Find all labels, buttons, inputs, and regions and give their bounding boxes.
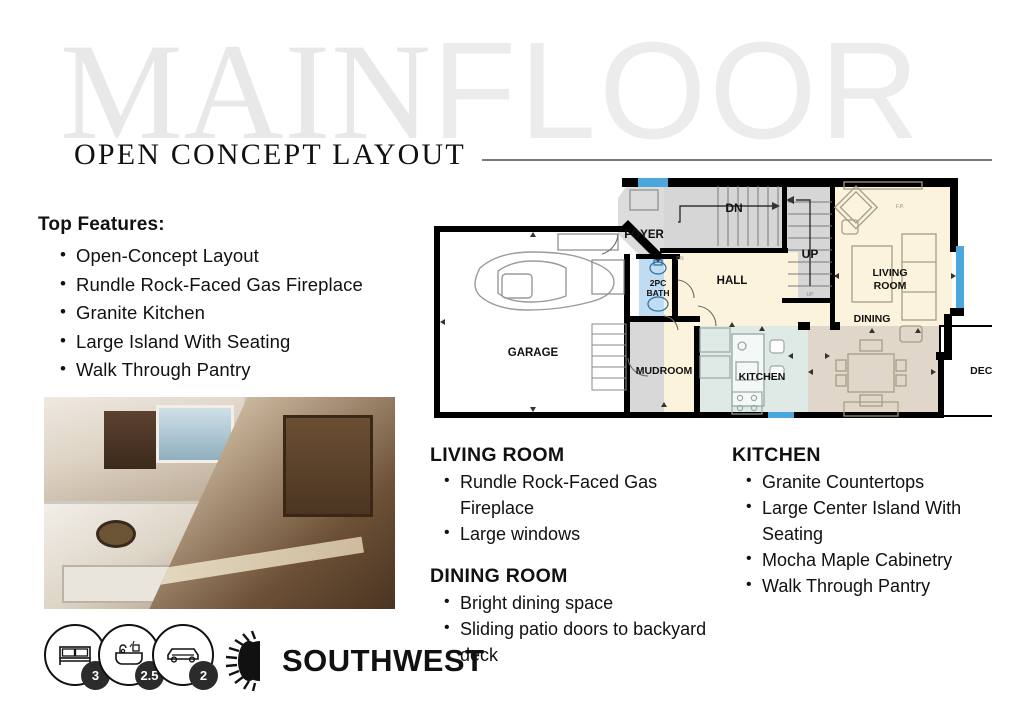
- living-room-label-line2: ROOM: [874, 280, 907, 292]
- dining-label: DINING: [854, 313, 891, 325]
- badge-bathrooms: 2.5: [98, 624, 160, 686]
- list-item: Granite Countertops: [746, 469, 1018, 495]
- kitchen-heading: KITCHEN: [732, 444, 1018, 467]
- list-item: Rundle Rock-Faced Gas Fireplace: [444, 469, 716, 521]
- kitchen-list: Granite Countertops Large Center Island …: [732, 469, 1018, 599]
- top-features-heading: Top Features:: [38, 214, 438, 236]
- list-item: Walk Through Pantry: [60, 356, 438, 385]
- deck-label: DECK: [970, 365, 992, 377]
- page-title-row: OPEN CONCEPT LAYOUT: [74, 138, 992, 172]
- fireplace-tag: F.P.: [896, 204, 904, 210]
- list-item: Large windows: [444, 521, 716, 547]
- stairs-down-tag: DN: [676, 256, 684, 262]
- stairs-up-tag: UP: [807, 292, 815, 298]
- property-badges: 3 2.5 2: [44, 624, 206, 686]
- foyer-label: FOYER: [624, 229, 664, 241]
- living-room-list: Rundle Rock-Faced Gas Fireplace Large wi…: [430, 469, 716, 547]
- garage-area: [438, 230, 628, 416]
- badge-garage-value: 2: [189, 661, 218, 690]
- top-features-block: Top Features: Open-Concept Layout Rundle…: [38, 214, 438, 385]
- floor-plan-drawing: GARAGE FOYER 2PC BATH DN UP HALL LIVING …: [432, 176, 992, 424]
- list-item: Sliding patio doors to backyard deck: [444, 616, 716, 668]
- room-column-right: KITCHEN Granite Countertops Large Center…: [732, 444, 1018, 617]
- photo-collage: [44, 397, 395, 609]
- kitchen-island: [732, 334, 764, 406]
- garage-label: GARAGE: [508, 347, 559, 359]
- half-sun-icon: [218, 630, 280, 692]
- stairs-up-label: UP: [802, 247, 819, 261]
- dining-room-list: Bright dining space Sliding patio doors …: [430, 590, 716, 668]
- window-foyer: [638, 178, 668, 187]
- list-item: Large Center Island With Seating: [746, 495, 1018, 547]
- title-divider: [482, 159, 992, 161]
- living-room-heading: LIVING ROOM: [430, 444, 716, 467]
- window-kitchen: [768, 412, 794, 418]
- page-title: OPEN CONCEPT LAYOUT: [74, 138, 466, 172]
- bath-label-line2: BATH: [647, 288, 670, 298]
- top-features-list: Open-Concept Layout Rundle Rock-Faced Ga…: [38, 242, 438, 385]
- list-item: Bright dining space: [444, 590, 716, 616]
- stairs-down-label: DN: [725, 201, 742, 215]
- mudroom-label: MUDROOM: [636, 365, 693, 377]
- list-item: Open-Concept Layout: [60, 242, 438, 271]
- list-item: Granite Kitchen: [60, 299, 438, 328]
- list-item: Mocha Maple Cabinetry: [746, 547, 1018, 573]
- window-living-room: [956, 246, 964, 308]
- living-room-label-line1: LIVING: [872, 267, 907, 279]
- hall-label: HALL: [717, 275, 748, 287]
- list-item: Rundle Rock-Faced Gas Fireplace: [60, 271, 438, 300]
- badge-garage: 2: [152, 624, 214, 686]
- dining-room-heading: DINING ROOM: [430, 565, 716, 588]
- bath-label-line1: 2PC: [650, 278, 667, 288]
- list-item: Large Island With Seating: [60, 328, 438, 357]
- floor-plan-marketing-page: MAINFLOOR OPEN CONCEPT LAYOUT Top Featur…: [0, 0, 1024, 724]
- kitchen-label: KITCHEN: [739, 371, 786, 383]
- list-item: Walk Through Pantry: [746, 573, 1018, 599]
- room-column-middle: LIVING ROOM Rundle Rock-Faced Gas Firepl…: [430, 444, 716, 686]
- badge-bedrooms: 3: [44, 624, 106, 686]
